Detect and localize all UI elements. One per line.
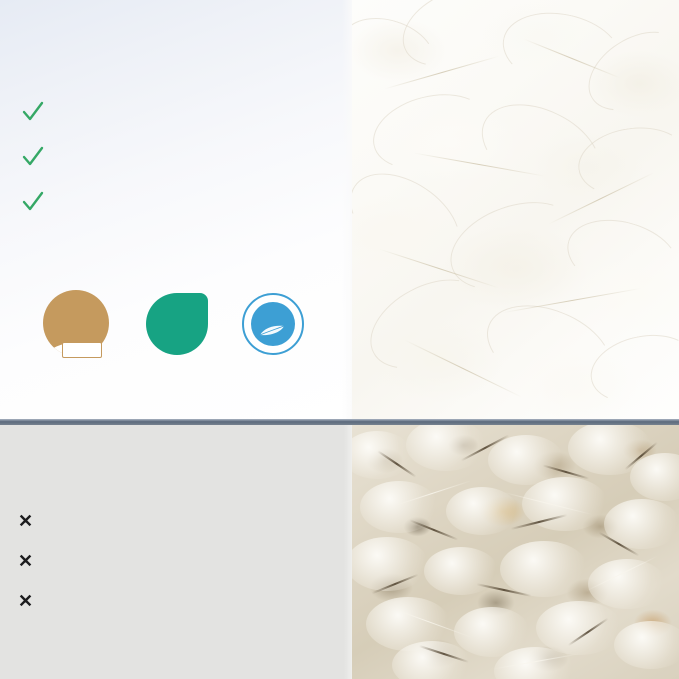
rds-badge xyxy=(242,293,304,355)
dirty-feathers-image xyxy=(352,425,679,679)
list-item xyxy=(22,144,352,171)
downpass-audited-seal xyxy=(62,342,102,358)
ours-section xyxy=(0,0,679,419)
oeko-tex-leaf-shape xyxy=(146,293,208,355)
feather-icon xyxy=(259,324,287,337)
clean-down-feathers-image xyxy=(352,0,679,419)
list-item: ✕ xyxy=(18,591,350,612)
check-icon xyxy=(22,145,44,171)
others-bullet-list: ✕ ✕ ✕ xyxy=(18,511,350,632)
ours-bullet-list xyxy=(22,99,352,234)
ours-text-panel xyxy=(0,0,352,419)
certification-badges xyxy=(40,288,304,360)
downpass-badge xyxy=(40,288,112,360)
list-item xyxy=(22,189,352,216)
check-icon xyxy=(22,100,44,126)
oeko-tex-badge xyxy=(146,293,208,355)
x-icon: ✕ xyxy=(18,551,40,572)
comparison-infographic: ✕ ✕ ✕ xyxy=(0,0,679,679)
list-item: ✕ xyxy=(18,551,350,572)
check-icon xyxy=(22,190,44,216)
list-item: ✕ xyxy=(18,511,350,532)
x-icon: ✕ xyxy=(18,591,40,612)
x-icon: ✕ xyxy=(18,511,40,532)
list-item xyxy=(22,99,352,126)
